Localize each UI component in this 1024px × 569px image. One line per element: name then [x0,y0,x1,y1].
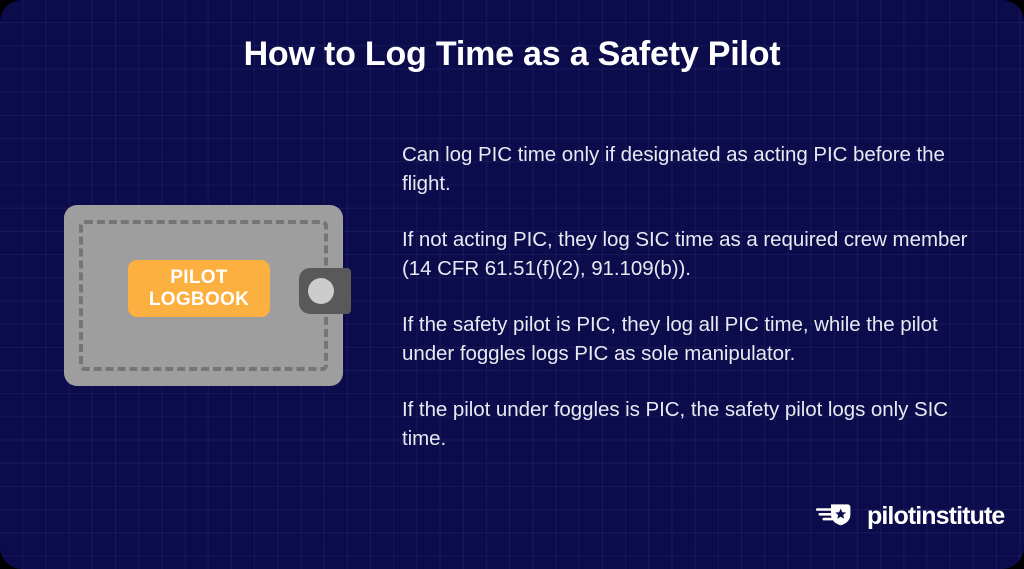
brand-wordmark: pilotinstitute [867,504,1004,529]
body-paragraph-4: If the pilot under foggles is PIC, the s… [402,396,982,453]
logbook-label-line-1: PILOT [170,267,227,289]
body-paragraph-3: If the safety pilot is PIC, they log all… [402,311,982,368]
page-title: How to Log Time as a Safety Pilot [0,33,1024,75]
pilot-logbook-illustration: PILOT LOGBOOK [64,205,343,386]
logbook-clasp-icon [299,268,351,314]
body-paragraph-1: Can log PIC time only if designated as a… [402,141,982,198]
logbook-label-line-2: LOGBOOK [149,289,249,311]
body-paragraph-2: If not acting PIC, they log SIC time as … [402,226,982,283]
infographic-card: How to Log Time as a Safety Pilot PILOT … [0,0,1024,569]
logbook-clasp-dot [308,278,334,304]
body-text-column: Can log PIC time only if designated as a… [402,141,982,453]
winged-shield-star-icon [816,500,858,533]
brand-logo: pilotinstitute [816,500,1004,533]
logbook-title-label: PILOT LOGBOOK [128,260,270,317]
